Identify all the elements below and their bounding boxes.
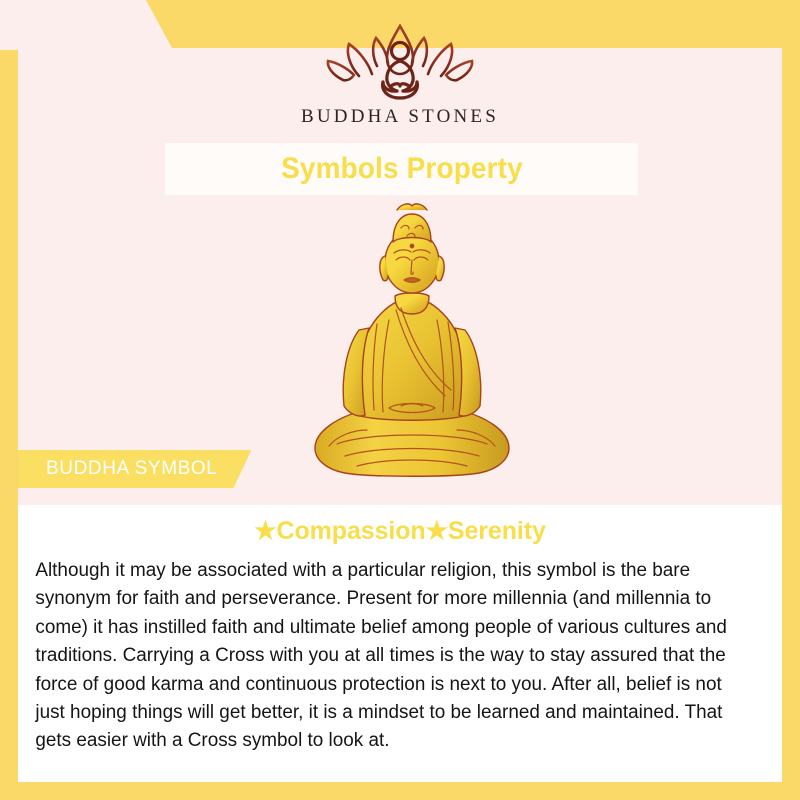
ribbon-label: BUDDHA SYMBOL xyxy=(46,458,217,480)
star-icon-left: ★ xyxy=(254,517,276,545)
content-section: ★Compassion★Serenity Although it may be … xyxy=(18,505,782,782)
lotus-meditation-icon xyxy=(315,18,485,104)
title-banner: Symbols Property xyxy=(165,143,638,195)
star-icon-right: ★ xyxy=(426,517,448,545)
brand-logo-block: BUDDHA STONES xyxy=(0,18,800,128)
page-title: Symbols Property xyxy=(281,152,523,186)
subheading: ★Compassion★Serenity xyxy=(18,505,782,546)
subheading-first-word: Compassion xyxy=(277,517,426,545)
body-paragraph: Although it may be associated with a par… xyxy=(18,546,771,755)
buddha-symbol-ribbon: BUDDHA SYMBOL xyxy=(18,450,251,488)
brand-wordmark: BUDDHA STONES xyxy=(0,106,800,128)
poster-page: BUDDHA STONES Symbols Property xyxy=(0,0,800,800)
subheading-second-word: Serenity xyxy=(448,517,546,545)
buddha-illustration xyxy=(297,200,527,495)
seated-buddha-icon xyxy=(297,200,527,495)
